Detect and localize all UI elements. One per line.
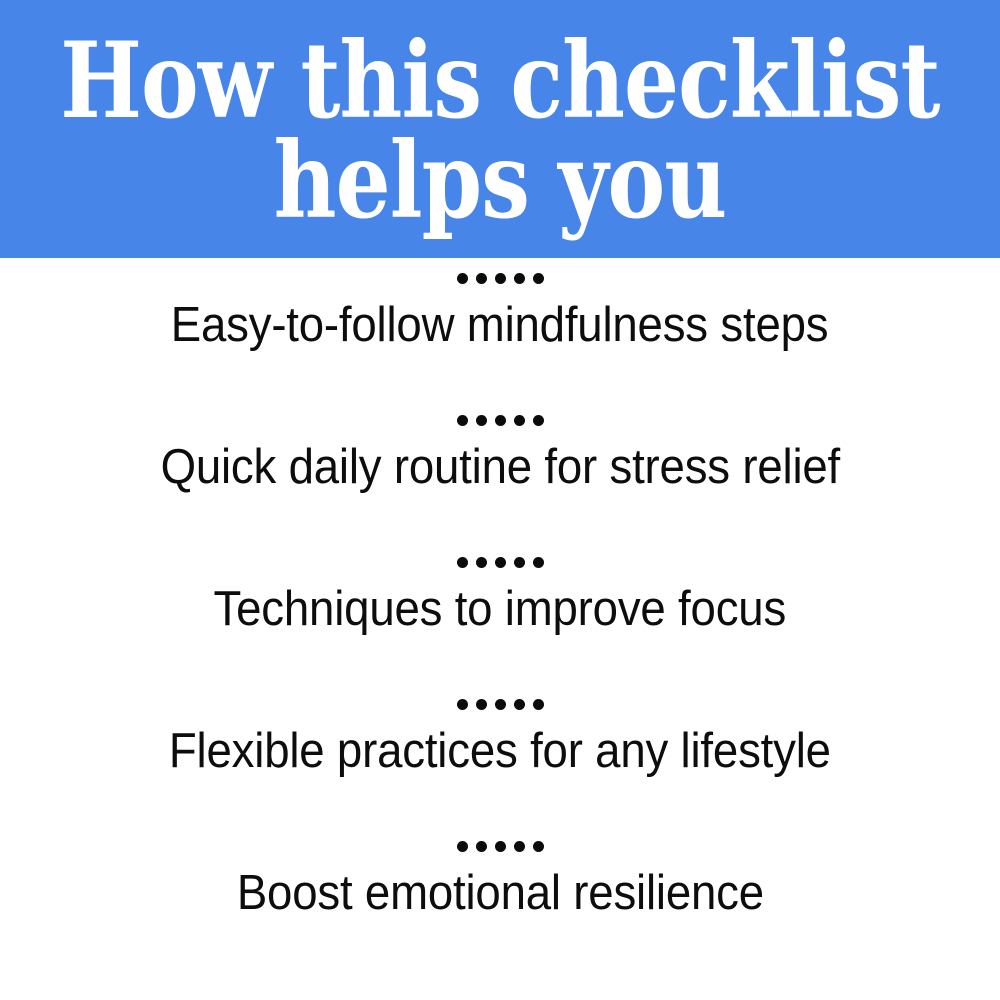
dot-icon — [533, 273, 544, 284]
list-item-label: Boost emotional resilience — [236, 868, 763, 919]
dot-icon — [533, 699, 544, 710]
list-item-label: Easy-to-follow mindfulness steps — [171, 300, 829, 351]
dot-icon — [476, 699, 487, 710]
dot-icon — [514, 841, 525, 852]
list-item: Quick daily routine for stress relief — [0, 414, 1000, 556]
dot-icon — [457, 415, 468, 426]
dot-icon — [457, 699, 468, 710]
dot-icon — [457, 841, 468, 852]
five-dots-separator-icon — [457, 698, 544, 710]
dot-icon — [495, 557, 506, 568]
dot-icon — [476, 273, 487, 284]
dot-icon — [514, 273, 525, 284]
list-item-label: Quick daily routine for stress relief — [160, 442, 839, 493]
dot-icon — [457, 557, 468, 568]
dot-icon — [495, 415, 506, 426]
header-banner: How this checklist helps you — [0, 0, 1000, 258]
dot-icon — [514, 699, 525, 710]
dot-icon — [476, 415, 487, 426]
five-dots-separator-icon — [457, 272, 544, 284]
list-item: Easy-to-follow mindfulness steps — [0, 272, 1000, 414]
dot-icon — [457, 273, 468, 284]
dot-icon — [514, 415, 525, 426]
dot-icon — [533, 415, 544, 426]
list-item: Flexible practices for any lifestyle — [0, 698, 1000, 840]
list-item: Techniques to improve focus — [0, 556, 1000, 698]
dot-icon — [533, 557, 544, 568]
five-dots-separator-icon — [457, 840, 544, 852]
page-title-line-1: How this checklist — [60, 32, 939, 129]
dot-icon — [495, 841, 506, 852]
five-dots-separator-icon — [457, 414, 544, 426]
dot-icon — [514, 557, 525, 568]
dot-icon — [476, 557, 487, 568]
dot-icon — [476, 841, 487, 852]
dot-icon — [495, 699, 506, 710]
dot-icon — [533, 841, 544, 852]
list-item-label: Techniques to improve focus — [214, 584, 787, 635]
checklist-poster: How this checklist helps you Easy-to-fol… — [0, 0, 1000, 1000]
list-item-label: Flexible practices for any lifestyle — [169, 726, 831, 777]
dot-icon — [495, 273, 506, 284]
five-dots-separator-icon — [457, 556, 544, 568]
list-item: Boost emotional resilience — [0, 840, 1000, 982]
page-title-line-2: helps you — [274, 133, 727, 230]
checklist-list: Easy-to-follow mindfulness steps Quick d… — [0, 258, 1000, 1000]
